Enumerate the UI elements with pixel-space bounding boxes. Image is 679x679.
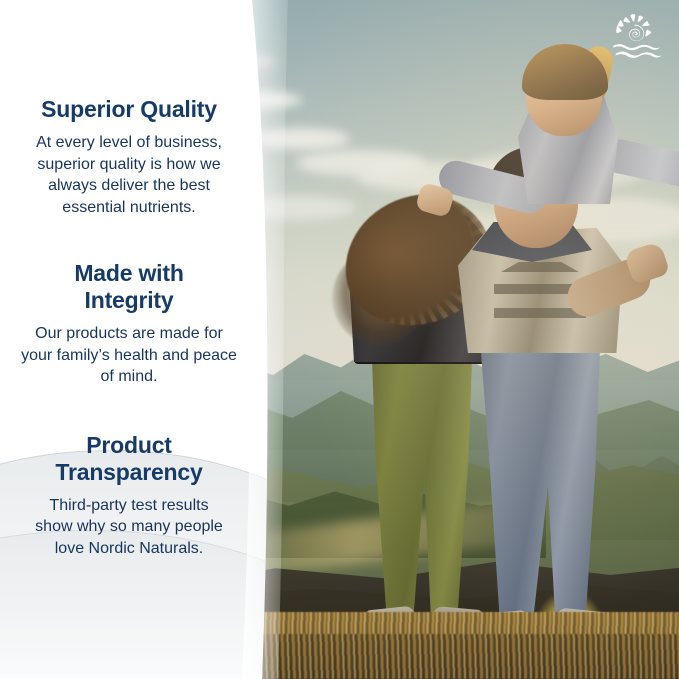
value-prop-made-with-integrity: Made with Integrity Our products are mad… xyxy=(0,260,258,388)
value-prop-body: Our products are made for your family’s … xyxy=(21,323,237,388)
value-props: Superior Quality At every level of busin… xyxy=(0,0,258,679)
marketing-banner: Superior Quality At every level of busin… xyxy=(0,0,679,679)
photo-scene xyxy=(236,0,679,679)
cloud xyxy=(254,128,350,150)
dry-grass-lower xyxy=(236,634,679,679)
sun-over-waves-icon xyxy=(609,12,663,62)
lifestyle-photo xyxy=(236,0,679,679)
value-prop-superior-quality: Superior Quality At every level of busin… xyxy=(0,96,258,218)
value-prop-heading: Superior Quality xyxy=(34,96,224,123)
value-prop-heading: Product Transparency xyxy=(14,432,244,486)
value-prop-body: At every level of business, superior qua… xyxy=(16,132,242,218)
value-prop-product-transparency: Product Transparency Third-party test re… xyxy=(0,432,258,560)
value-prop-body: Third-party test results show why so man… xyxy=(29,495,229,560)
value-prop-heading: Made with Integrity xyxy=(29,260,229,314)
